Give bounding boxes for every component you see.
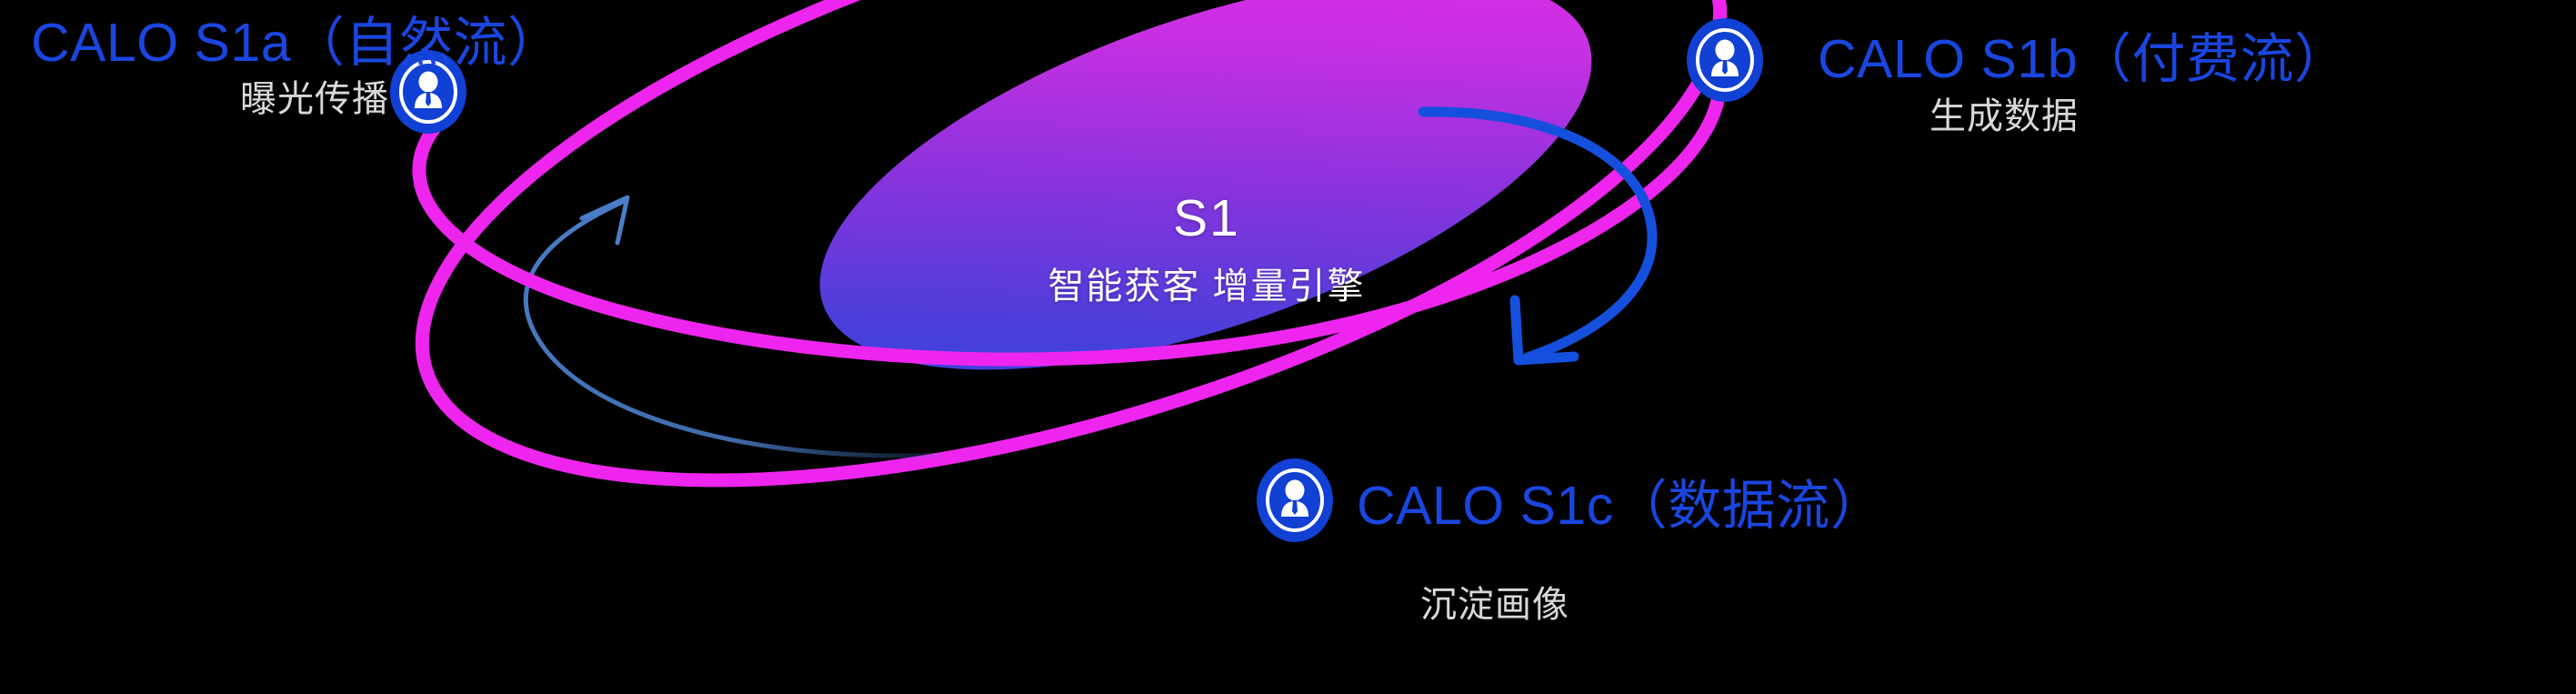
node-s1a-subtitle: 曝光传播	[240, 81, 389, 117]
core-ellipse	[773, 0, 1639, 451]
node-s1c[interactable]	[1257, 458, 1333, 542]
node-s1b[interactable]	[1687, 18, 1763, 102]
node-s1b-subtitle: 生成数据	[1929, 98, 2079, 135]
node-s1c-title: CALO S1c（数据流）	[1357, 479, 1884, 533]
node-s1a-title: CALO S1a（自然流）	[31, 16, 562, 70]
node-s1b-title: CALO S1b（付费流）	[1818, 33, 2349, 86]
node-s1c-subtitle: 沉淀画像	[1420, 587, 1569, 623]
diagram-canvas: S1 智能获客 增量引擎 CALO S1a（自然流） 曝光传播 CALO S1b…	[0, 0, 2576, 694]
